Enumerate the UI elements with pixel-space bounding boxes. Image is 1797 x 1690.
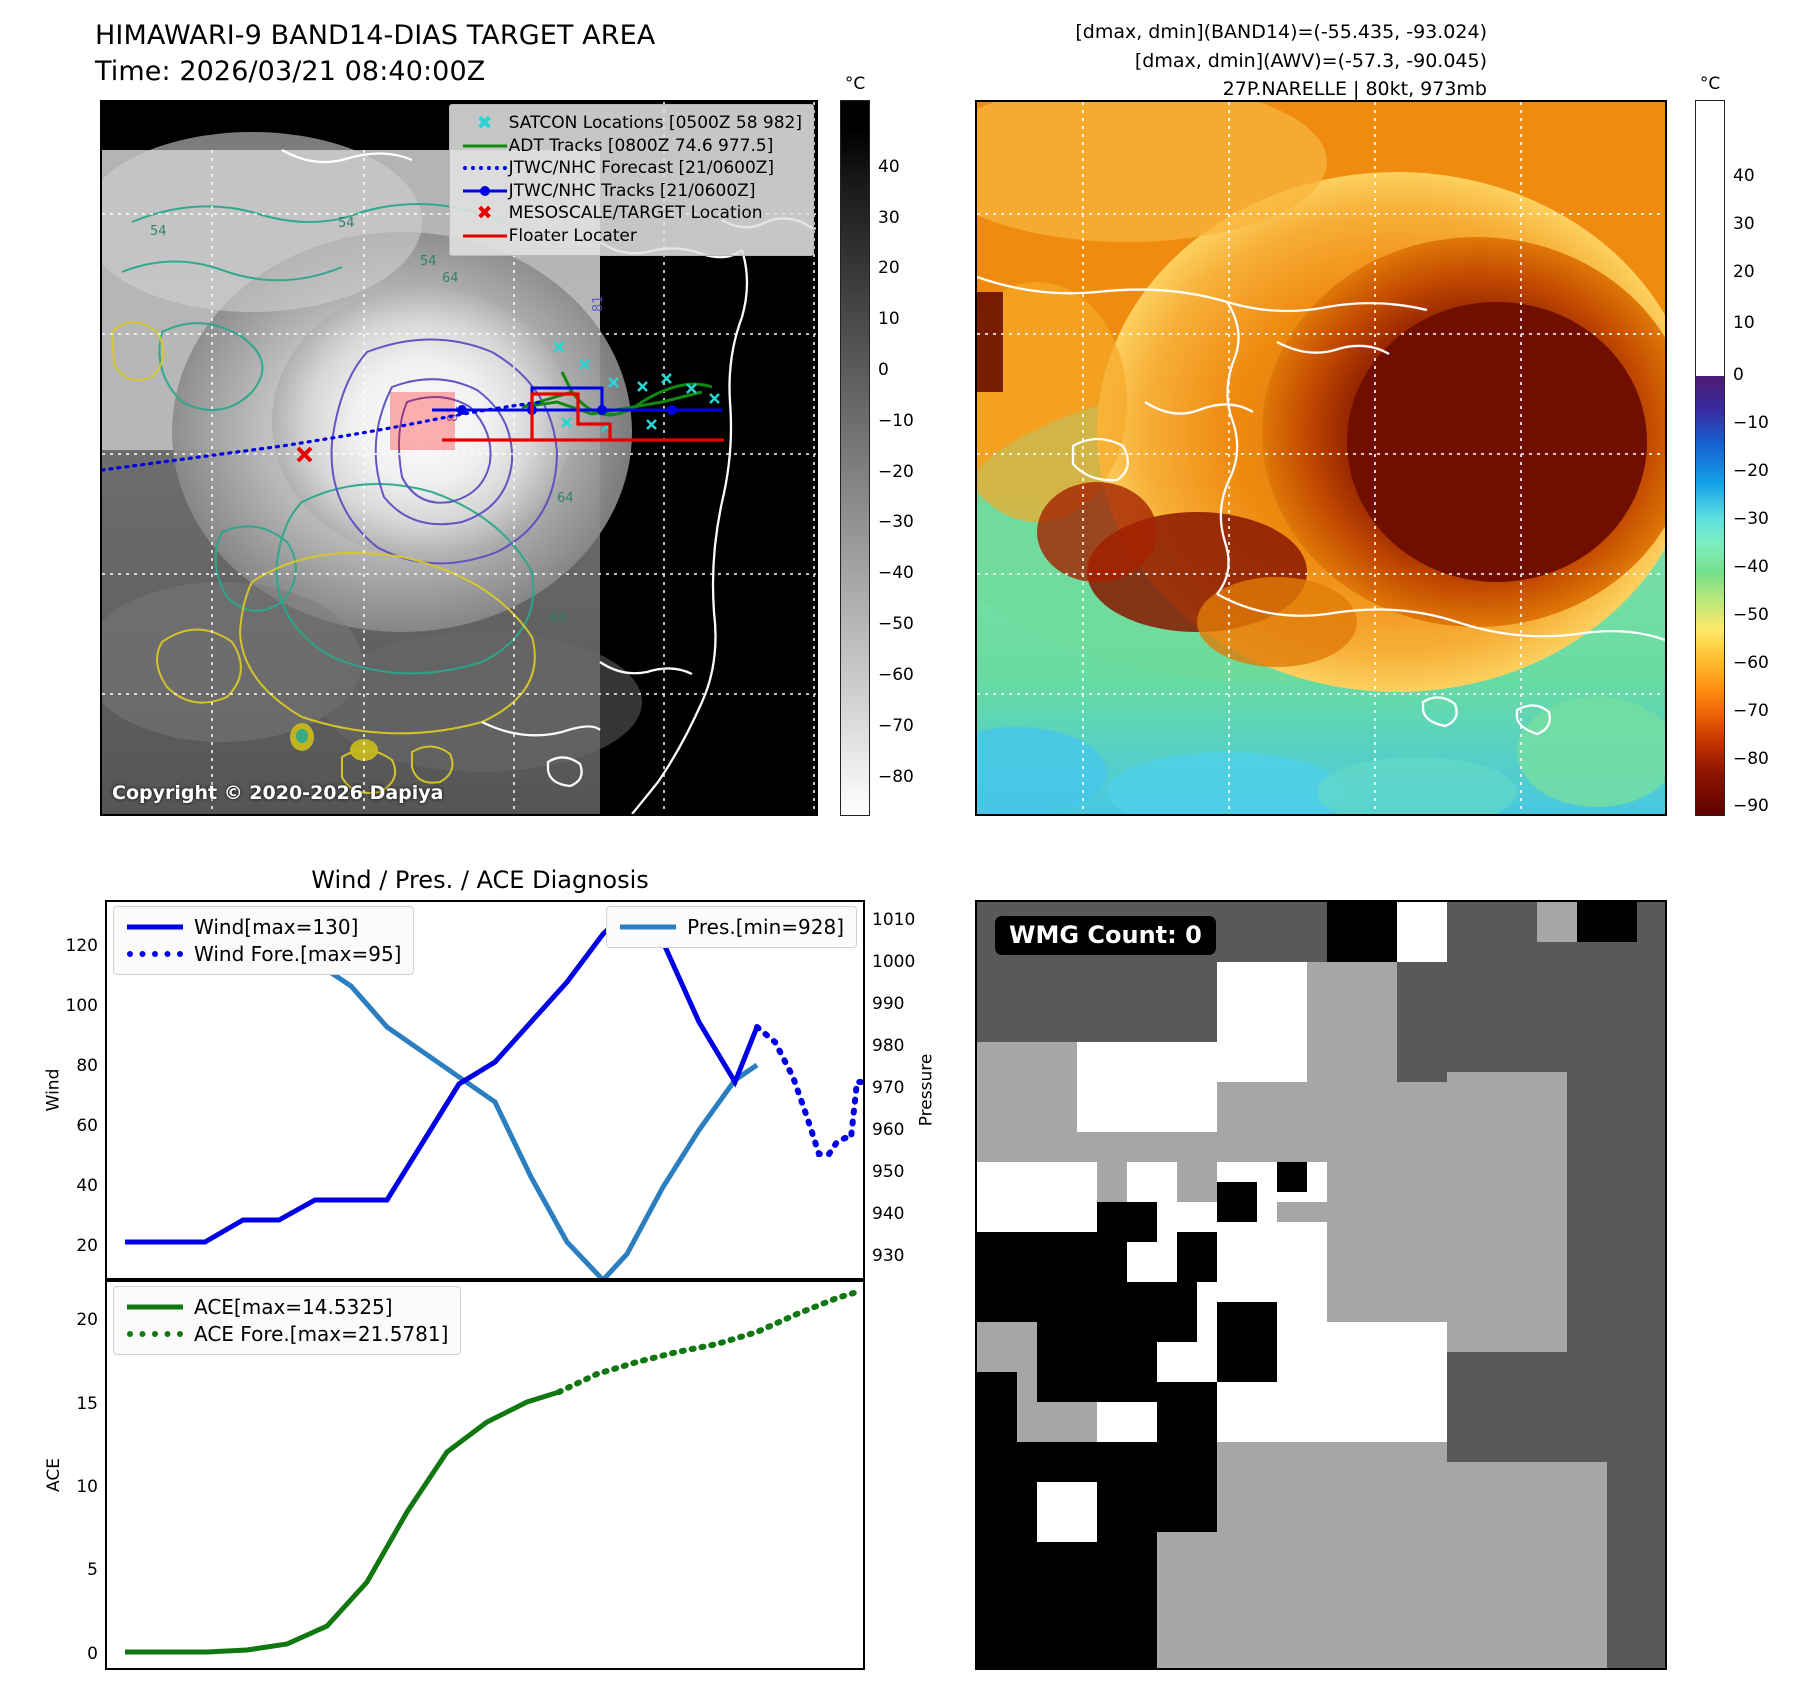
title-line-2: Time: 2026/03/21 08:40:00Z [95, 54, 895, 90]
pressure-ytick: 990 [872, 994, 904, 1014]
pressure-ytick: 1010 [872, 910, 915, 930]
colorbar-tick: 40 [1733, 166, 1755, 186]
svg-text:54: 54 [338, 216, 355, 231]
legend-item: Wind[max=130] [124, 913, 401, 940]
legend-item: Floater Locater [461, 225, 802, 248]
wind-ytick: 20 [76, 1236, 98, 1256]
ace-forecast-line [559, 1292, 857, 1392]
colorbar-tick: −40 [878, 563, 914, 583]
colorbar-tick: 10 [1733, 313, 1755, 333]
svg-text:64: 64 [442, 271, 459, 286]
wind-ytick: 120 [66, 936, 98, 956]
wmg-raster [977, 902, 1665, 1668]
temperature-colorbar-left: °C 40 30 20 10 0 −10 −20 −30 −40 −50 −60… [840, 100, 870, 816]
dotted-line-icon [124, 1324, 186, 1344]
legend-item: ACE Fore.[max=21.5781] [124, 1320, 448, 1347]
wind-pressure-chart[interactable]: Wind[max=130] Wind Fore.[max=95] Pres.[m… [105, 900, 865, 1280]
colorbar-tick: −40 [1733, 557, 1769, 577]
legend-item: ✖ SATCON Locations [0500Z 58 982] [461, 112, 802, 135]
colorbar-tick: 20 [878, 258, 900, 278]
colorbar-tick: −10 [1733, 413, 1769, 433]
page-title: HIMAWARI-9 BAND14-DIAS TARGET AREA Time:… [95, 18, 895, 91]
wmg-cloud-cluster-panel[interactable]: WMG Count: 0 [975, 900, 1667, 1670]
pressure-ytick: 980 [872, 1036, 904, 1056]
ace-ytick: 0 [87, 1644, 98, 1664]
stat-awv: [dmax, dmin](AWV)=(-57.3, -90.045) [787, 47, 1487, 76]
ace-ytick: 10 [76, 1477, 98, 1497]
wind-ytick: 100 [66, 996, 98, 1016]
legend-item: ADT Tracks [0800Z 74.6 977.5] [461, 135, 802, 158]
colorbar-tick: −30 [1733, 509, 1769, 529]
svg-text:81: 81 [591, 295, 606, 312]
wmg-count-badge: WMG Count: 0 [995, 916, 1216, 955]
colorbar-tick: −60 [1733, 653, 1769, 673]
legend-item: ACE[max=14.5325] [124, 1293, 448, 1320]
map-right-canvas [977, 102, 1665, 814]
legend-label: ACE[max=14.5325] [194, 1295, 393, 1319]
ace-ytick: 15 [76, 1394, 98, 1414]
pressure-ytick: 940 [872, 1204, 904, 1224]
svg-text:64: 64 [550, 611, 567, 626]
legend-label: ADT Tracks [0800Z 74.6 977.5] [509, 136, 774, 156]
svg-text:54: 54 [420, 254, 437, 269]
colorbar-tick: −20 [878, 462, 914, 482]
legend-label: Pres.[min=928] [687, 915, 844, 939]
wind-axis-label: Wind [43, 1069, 63, 1112]
colorbar-unit-label: °C [1700, 74, 1720, 94]
colorbar-unit-label: °C [845, 74, 865, 94]
svg-text:64: 64 [557, 491, 574, 506]
colorbar-tick: −70 [878, 716, 914, 736]
dotted-line-icon [124, 944, 186, 964]
x-marker-icon: ✖ [461, 114, 509, 132]
colorbar-tick: −60 [878, 665, 914, 685]
legend-item: ✖ MESOSCALE/TARGET Location [461, 202, 802, 225]
solid-line-icon [461, 227, 509, 245]
ace-axis-label: ACE [44, 1458, 64, 1492]
svg-text:54: 54 [150, 224, 167, 239]
pressure-ytick: 970 [872, 1078, 904, 1098]
pressure-axis-label: Pressure [917, 1054, 937, 1127]
copyright-notice: Copyright © 2020-2026 Dapiya [112, 782, 443, 804]
awv-enhanced-map[interactable]: 10°S 12°S 14°S 16°S 18°S 134°E 136°E 138… [975, 100, 1667, 816]
colorbar-tick: −10 [878, 411, 914, 431]
wind-ytick: 60 [76, 1116, 98, 1136]
colorbar-tick: 0 [1733, 365, 1744, 385]
legend-label: SATCON Locations [0500Z 58 982] [509, 113, 802, 133]
legend-label: MESOSCALE/TARGET Location [509, 203, 763, 223]
colorbar-tick: −50 [878, 614, 914, 634]
legend-label: Floater Locater [509, 226, 637, 246]
wind-ytick: 40 [76, 1176, 98, 1196]
wind-pressure-ace-title: Wind / Pres. / ACE Diagnosis [95, 866, 865, 894]
dotted-line-icon [461, 159, 509, 177]
legend-item: Pres.[min=928] [617, 913, 844, 940]
colorbar-gradient [1695, 100, 1725, 816]
ace-chart[interactable]: ACE[max=14.5325] ACE Fore.[max=21.5781] … [105, 1280, 865, 1670]
ace-legend: ACE[max=14.5325] ACE Fore.[max=21.5781] [113, 1286, 461, 1355]
stat-band14: [dmax, dmin](BAND14)=(-55.435, -93.024) [787, 18, 1487, 47]
colorbar-tick: −80 [1733, 749, 1769, 769]
colorbar-gradient [840, 100, 870, 816]
legend-label: JTWC/NHC Tracks [21/0600Z] [509, 181, 756, 201]
wind-legend: Wind[max=130] Wind Fore.[max=95] [113, 906, 414, 975]
pressure-ytick: 960 [872, 1120, 904, 1140]
solid-line-icon [124, 917, 186, 937]
colorbar-tick: −80 [878, 767, 914, 787]
ace-ytick: 5 [87, 1560, 98, 1580]
map-legend: ✖ SATCON Locations [0500Z 58 982] ADT Tr… [449, 104, 814, 256]
line-with-node-icon [461, 182, 509, 200]
colorbar-tick: 0 [878, 360, 889, 380]
pressure-legend: Pres.[min=928] [606, 906, 857, 948]
pressure-ytick: 1000 [872, 952, 915, 972]
legend-item: Wind Fore.[max=95] [124, 940, 401, 967]
wind-forecast-line [757, 1027, 861, 1154]
pressure-ytick: 950 [872, 1162, 904, 1182]
legend-item: JTWC/NHC Tracks [21/0600Z] [461, 180, 802, 203]
legend-label: Wind[max=130] [194, 915, 358, 939]
colorbar-tick: −20 [1733, 461, 1769, 481]
himawari-band14-map[interactable]: 545454 646464 81 81 [100, 100, 818, 816]
solid-line-icon [617, 917, 679, 937]
legend-label: JTWC/NHC Forecast [21/0600Z] [509, 158, 774, 178]
colorbar-tick: 20 [1733, 262, 1755, 282]
colorbar-tick: 10 [878, 309, 900, 329]
colorbar-tick: −30 [878, 512, 914, 532]
solid-line-icon [461, 137, 509, 155]
colorbar-tick: −90 [1733, 796, 1769, 816]
title-line-1: HIMAWARI-9 BAND14-DIAS TARGET AREA [95, 18, 895, 54]
wind-ytick: 80 [76, 1056, 98, 1076]
header-stats: [dmax, dmin](BAND14)=(-55.435, -93.024) … [787, 18, 1487, 104]
legend-label: ACE Fore.[max=21.5781] [194, 1322, 448, 1346]
pressure-ytick: 930 [872, 1246, 904, 1266]
ace-line [125, 1392, 559, 1652]
temperature-colorbar-right: °C 40 30 20 10 0 −10 −20 −30 −40 −50 −60… [1695, 100, 1725, 816]
legend-label: Wind Fore.[max=95] [194, 942, 401, 966]
colorbar-tick: 30 [878, 208, 900, 228]
colorbar-tick: −70 [1733, 701, 1769, 721]
colorbar-tick: 30 [1733, 214, 1755, 234]
colorbar-tick: −50 [1733, 605, 1769, 625]
x-marker-icon: ✖ [461, 204, 509, 222]
legend-item: JTWC/NHC Forecast [21/0600Z] [461, 157, 802, 180]
solid-line-icon [124, 1297, 186, 1317]
ace-ytick: 20 [76, 1310, 98, 1330]
colorbar-tick: 40 [878, 157, 900, 177]
